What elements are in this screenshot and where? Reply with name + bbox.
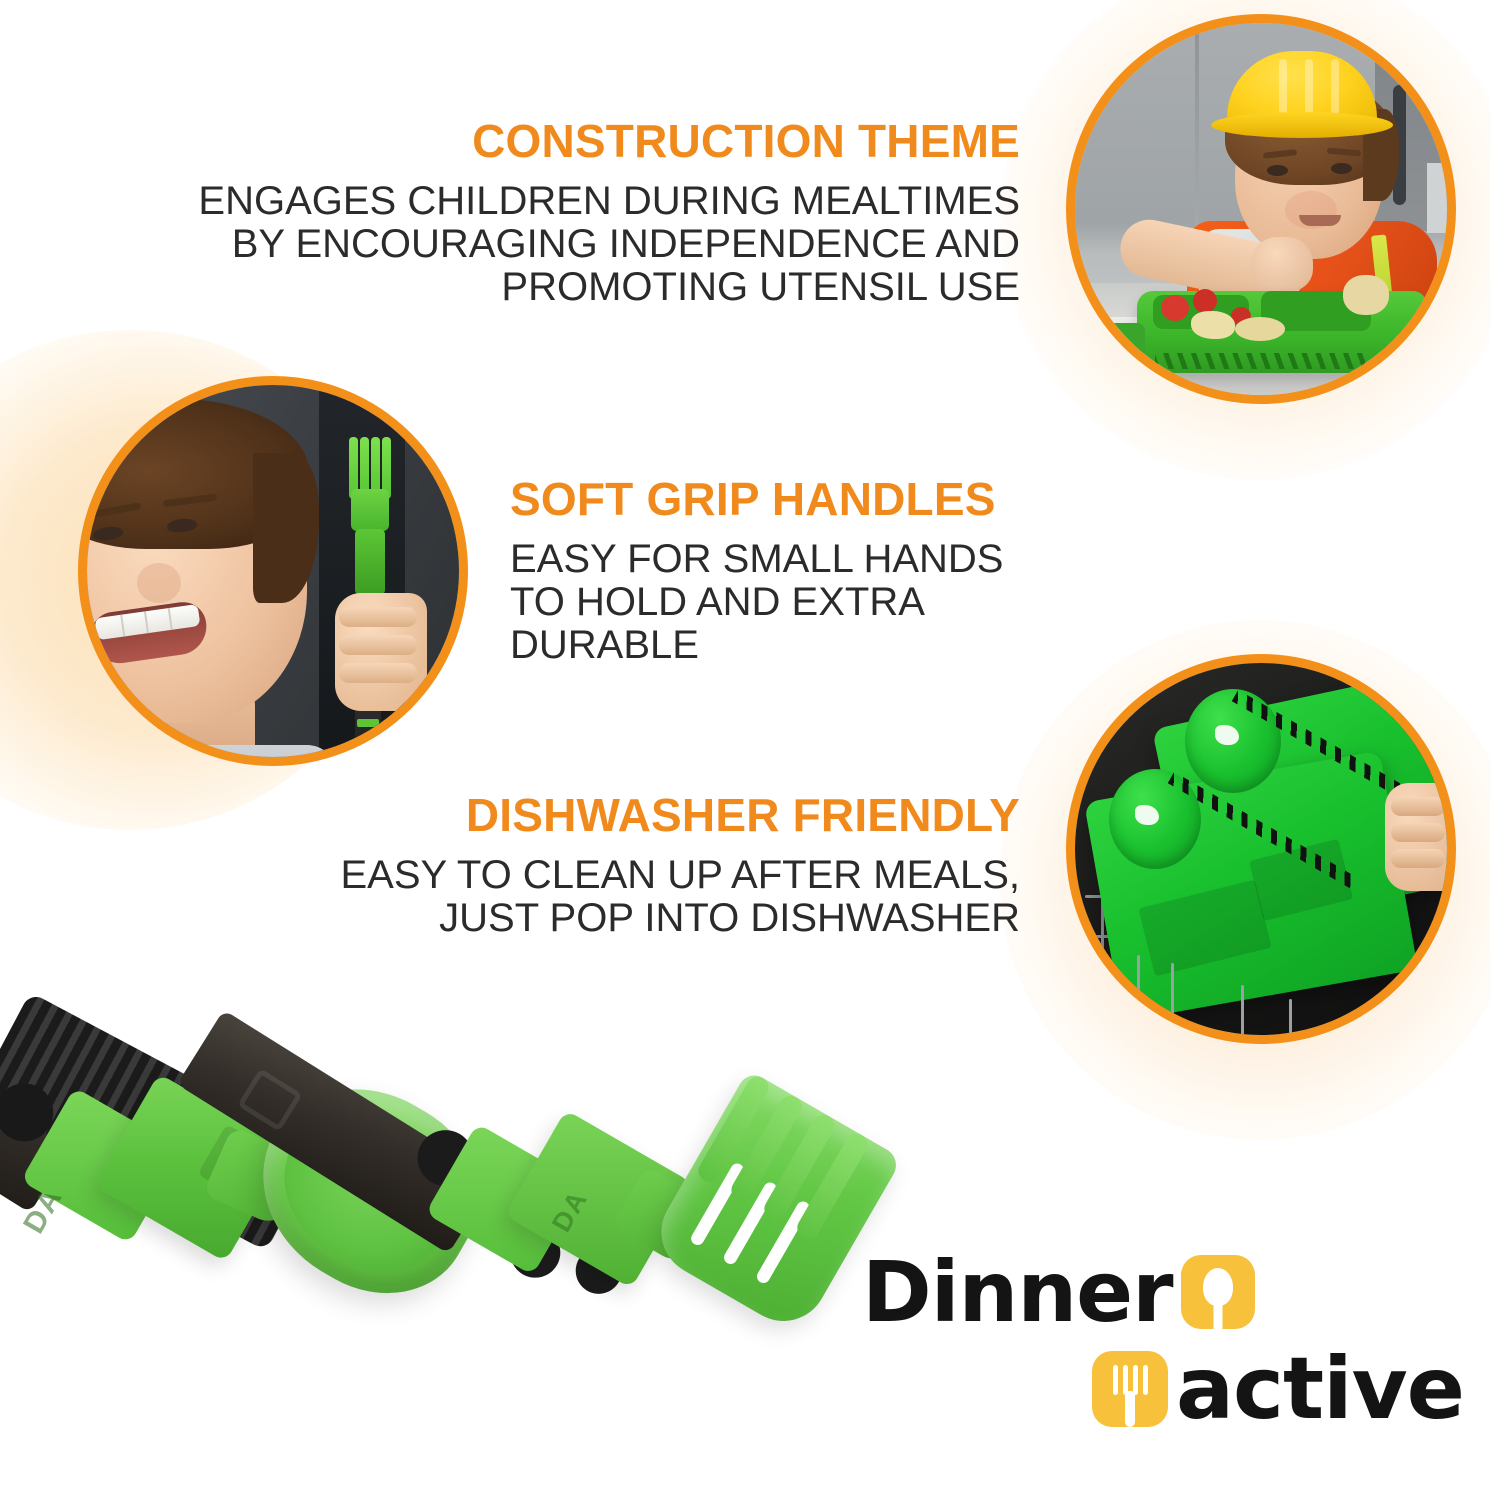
pasta-food	[1343, 275, 1389, 315]
child-finger	[339, 663, 417, 683]
feature-body-line: PROMOTING UTENSIL USE	[170, 266, 1020, 309]
dishwasher-tine	[1171, 963, 1174, 1029]
fork-glyph-tine	[1143, 1365, 1148, 1395]
child-finger	[339, 635, 417, 655]
feature-title-soft-grip-handles: SOFT GRIP HANDLES	[510, 476, 1030, 524]
hard-hat-rib	[1305, 59, 1313, 115]
photo-1-content	[1075, 23, 1447, 395]
child-finger	[339, 607, 417, 627]
feature-body-line: JUST POP INTO DISHWASHER	[320, 897, 1020, 940]
child-mouth	[1299, 215, 1341, 226]
fork-glyph-tine	[1133, 1365, 1138, 1395]
feature-block-dishwasher-friendly: DISHWASHER FRIENDLY EASY TO CLEAN UP AFT…	[320, 792, 1020, 940]
adult-finger	[1391, 797, 1445, 816]
fork-glyph-stem	[1125, 1391, 1135, 1427]
infographic-canvas: CONSTRUCTION THEME ENGAGES CHILDREN DURI…	[0, 0, 1490, 1500]
feature-body-dishwasher-friendly: EASY TO CLEAN UP AFTER MEALS, JUST POP I…	[320, 854, 1020, 940]
fork-icon	[1092, 1351, 1168, 1427]
child-hand	[1251, 237, 1313, 291]
hard-hat-rib	[1331, 59, 1339, 115]
feature-body-soft-grip-handles: EASY FOR SMALL HANDS TO HOLD AND EXTRA D…	[510, 538, 1030, 668]
cabinet-seam	[1195, 23, 1199, 239]
feature-title-construction-theme: CONSTRUCTION THEME	[170, 118, 1020, 166]
feature-body-construction-theme: ENGAGES CHILDREN DURING MEALTIMES BY ENC…	[170, 180, 1020, 310]
adult-finger	[1391, 849, 1445, 868]
logo-word-active: active	[1176, 1346, 1464, 1432]
logo-word-dinner: Dinner	[862, 1250, 1173, 1334]
child-shirt	[87, 745, 337, 757]
photo-2-content	[87, 385, 459, 757]
child-eye	[1331, 163, 1352, 174]
tray-hazard-stripes	[1155, 353, 1365, 369]
strawberry	[1193, 289, 1217, 313]
banana-slice	[1235, 317, 1285, 341]
photo-construction-theme	[1066, 14, 1456, 404]
logo-row-top: Dinner	[862, 1250, 1263, 1334]
strawberry	[1161, 295, 1189, 321]
feature-body-line: BY ENCOURAGING INDEPENDENCE AND	[170, 223, 1020, 266]
feature-title-dishwasher-friendly: DISHWASHER FRIENDLY	[320, 792, 1020, 840]
spoon-glyph	[1203, 1268, 1233, 1306]
feature-block-construction-theme: CONSTRUCTION THEME ENGAGES CHILDREN DURI…	[170, 118, 1020, 309]
photo-soft-grip-handles	[78, 376, 468, 766]
fork-head	[351, 489, 389, 531]
spoon-icon	[1181, 1255, 1255, 1329]
fork-glyph-tine	[1113, 1365, 1118, 1395]
photo-3-content	[1075, 663, 1447, 1035]
child-nose	[137, 563, 181, 603]
banana-slice	[1191, 311, 1235, 339]
logo-row-bottom: active	[1084, 1346, 1464, 1432]
feature-block-soft-grip-handles: SOFT GRIP HANDLES EASY FOR SMALL HANDS T…	[510, 476, 1030, 667]
adult-finger	[1391, 823, 1445, 842]
fork-body	[355, 529, 385, 595]
feature-body-line: TO HOLD AND EXTRA	[510, 581, 1030, 624]
hard-hat-rib	[1279, 59, 1287, 115]
feature-body-line: EASY TO CLEAN UP AFTER MEALS,	[320, 854, 1020, 897]
dishwasher-tine	[1137, 955, 1140, 1025]
appliance-panel	[1427, 163, 1447, 233]
fork-glyph	[1113, 1365, 1147, 1413]
feature-body-line: DURABLE	[510, 624, 1030, 667]
dishwasher-tine	[1289, 999, 1292, 1035]
dishwasher-tine	[1241, 985, 1244, 1035]
feature-body-line: ENGAGES CHILDREN DURING MEALTIMES	[170, 180, 1020, 223]
hero-product-photo: DA DA	[0, 960, 920, 1500]
photo-dishwasher-friendly	[1066, 654, 1456, 1044]
toy-truck	[1101, 323, 1145, 353]
child-eye	[1267, 165, 1288, 176]
feature-body-line: EASY FOR SMALL HANDS	[510, 538, 1030, 581]
brand-logo: Dinner active	[862, 1250, 1462, 1470]
